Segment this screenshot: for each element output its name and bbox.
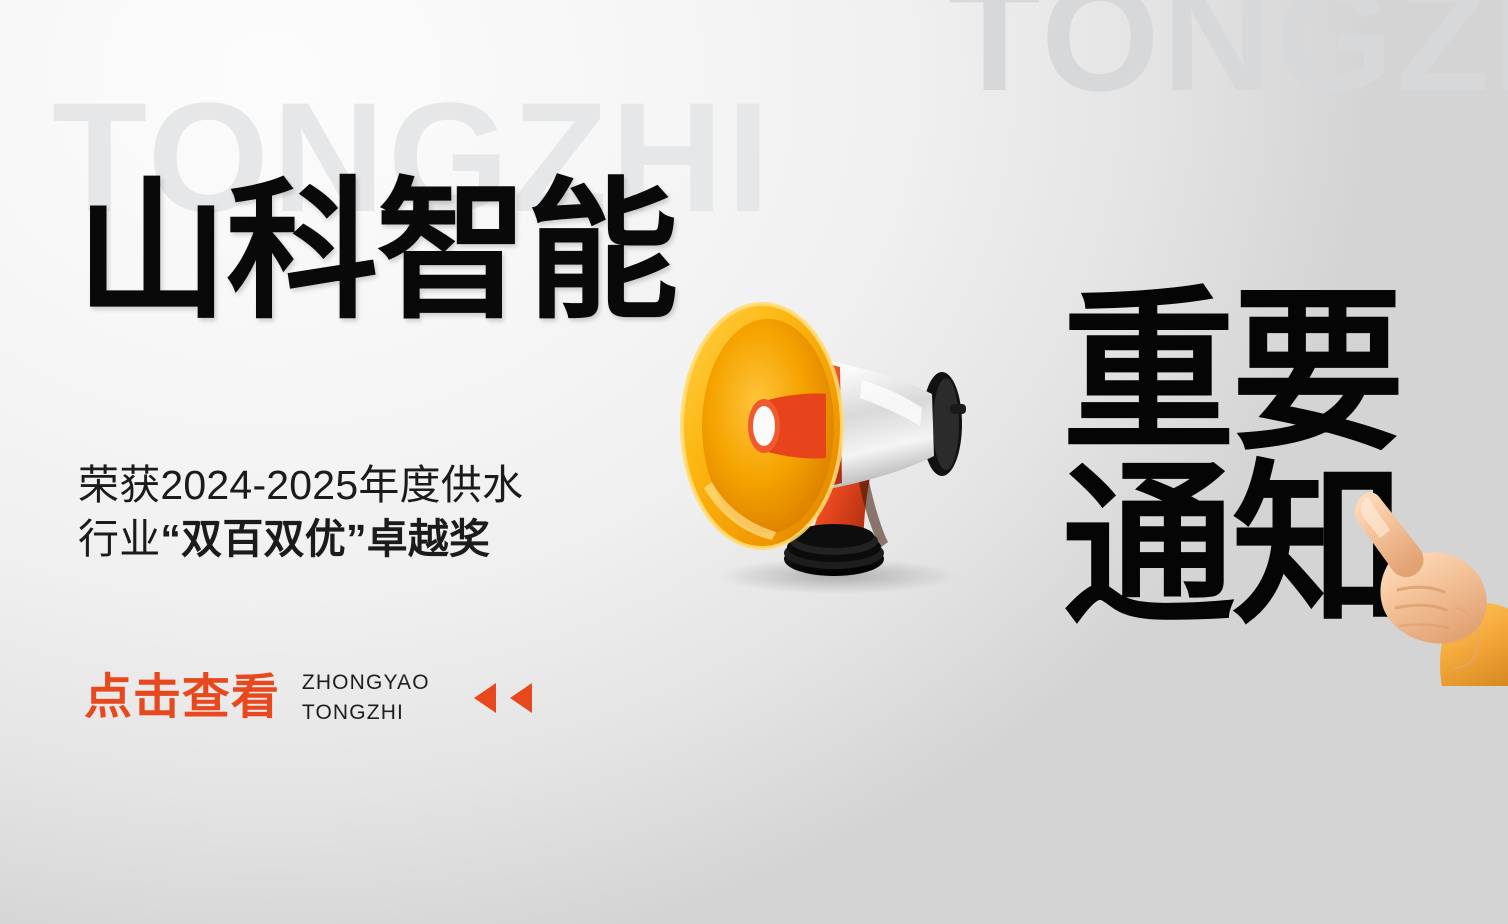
background-watermark-secondary: TONGZHI [948,0,1508,114]
award-subtitle-line-2-light: 行业 [78,516,160,562]
cta-pinyin-line-2: TONGZHI [302,698,430,728]
award-subtitle-line-2-bold: “双百双优”卓越奖 [160,516,490,562]
notice-headline-line-1: 重要 [1062,286,1401,460]
promotional-banner: TONGZHI TONGZHI 山科智能 荣获2024-2025年度供水 行业“… [0,0,1508,924]
cta-arrow-group[interactable] [474,683,532,713]
award-subtitle: 荣获2024-2025年度供水 行业“双百双优”卓越奖 [78,458,523,566]
cta-group[interactable]: 点击查看 ZHONGYAO TONGZHI [84,668,532,728]
pointing-hand-icon [1336,486,1508,686]
brand-title: 山科智能 [76,176,677,328]
triangle-left-icon[interactable] [474,683,496,713]
award-subtitle-line-1: 荣获2024-2025年度供水 [78,458,523,512]
cta-pinyin-label: ZHONGYAO TONGZHI [302,668,430,728]
triangle-left-icon[interactable] [510,683,532,713]
cta-pinyin-line-1: ZHONGYAO [302,668,430,698]
megaphone-icon [612,276,1012,596]
cta-button-label[interactable]: 点击查看 [84,674,280,722]
